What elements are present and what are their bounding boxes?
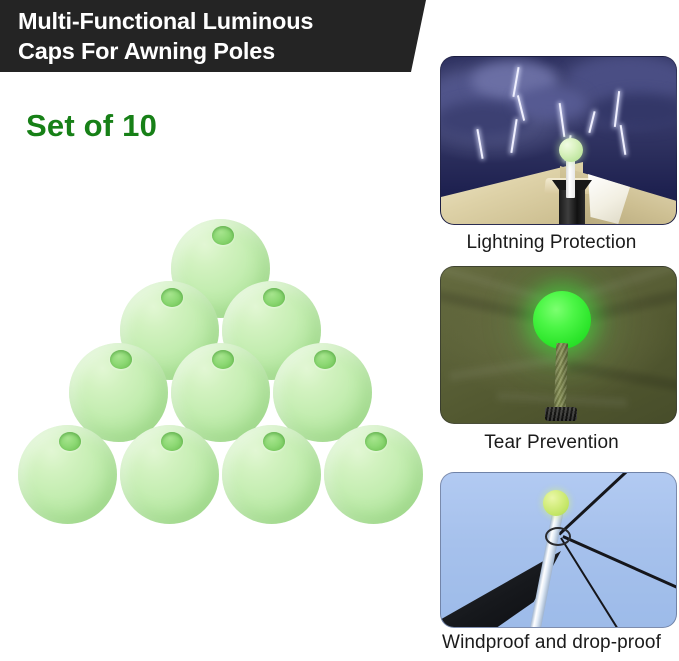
fabric-fold bbox=[449, 354, 559, 381]
cap-hole-icon bbox=[59, 432, 81, 451]
fabric-fold bbox=[567, 361, 677, 393]
cap-hole-icon bbox=[365, 432, 387, 451]
cap-hole-icon bbox=[212, 226, 234, 245]
guy-line bbox=[562, 535, 677, 590]
cap-hole-icon bbox=[161, 432, 183, 451]
storm-cloud bbox=[515, 87, 587, 119]
set-quantity-label: Set of 10 bbox=[26, 108, 157, 144]
feature-caption-lightning-protection: Lightning Protection bbox=[424, 232, 679, 254]
sky-guyline-photo bbox=[440, 472, 677, 628]
guy-line bbox=[558, 472, 669, 535]
cap-hole-icon bbox=[263, 432, 285, 451]
pole-cap-ball bbox=[222, 425, 321, 524]
pole-cap-ball bbox=[120, 425, 219, 524]
product-ball-pyramid bbox=[0, 205, 430, 535]
guy-line-ring bbox=[545, 527, 571, 546]
pole-cap-ball bbox=[18, 425, 117, 524]
storm-tent-photo bbox=[440, 56, 677, 225]
storm-cloud bbox=[591, 93, 677, 129]
title-banner: Multi-Functional Luminous Caps For Awnin… bbox=[0, 0, 426, 72]
feature-panel-column: Lightning Protection Tear Prevention bbox=[424, 50, 679, 661]
page-title: Multi-Functional Luminous Caps For Awnin… bbox=[18, 6, 408, 66]
cap-hole-icon bbox=[263, 288, 285, 307]
luminous-cap-ball bbox=[533, 291, 591, 349]
pole-cap-ball bbox=[324, 425, 423, 524]
lightning-bolt bbox=[620, 125, 626, 155]
canvas-glow-photo bbox=[440, 266, 677, 424]
pole-shaft bbox=[554, 343, 568, 413]
lightning-bolt bbox=[588, 111, 595, 133]
feature-caption-tear-prevention: Tear Prevention bbox=[424, 432, 679, 454]
luminous-cap-ball bbox=[559, 138, 583, 162]
luminous-cap-ball bbox=[543, 490, 569, 516]
pole-collar bbox=[545, 407, 577, 421]
feature-caption-windproof: Windproof and drop-proof bbox=[424, 632, 679, 654]
cap-hole-icon bbox=[161, 288, 183, 307]
cap-hole-icon bbox=[314, 350, 336, 369]
cap-hole-icon bbox=[110, 350, 132, 369]
cap-hole-icon bbox=[212, 350, 234, 369]
